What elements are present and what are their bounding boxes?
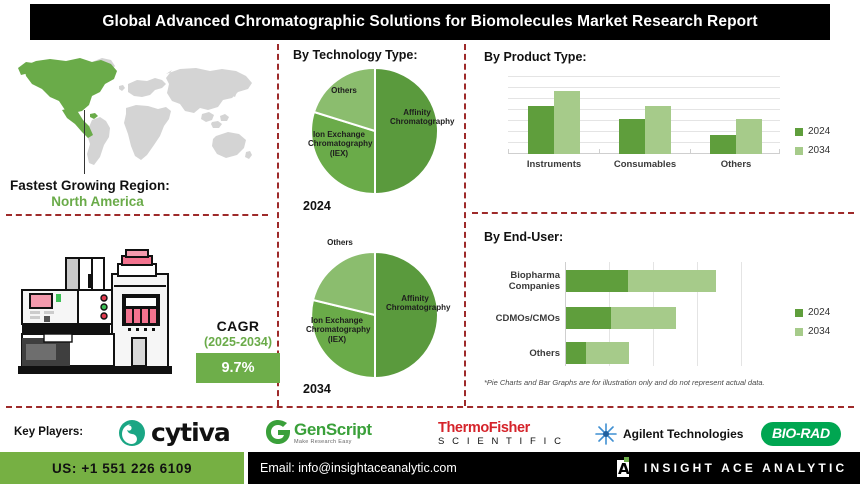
cagr-value: 9.7% xyxy=(196,353,280,383)
enduser-bar-chart xyxy=(565,262,765,366)
brand-block: A INSIGHT ACE ANALYTIC xyxy=(612,452,847,484)
page-title: Global Advanced Chromatographic Solution… xyxy=(102,13,757,31)
logo-thermo-fisher: ThermoFisher S C I E N T I F I C xyxy=(438,420,564,447)
bar-consumables-2034 xyxy=(645,106,671,154)
pie-chart-2024: Affinity Chromatography Ion Exchange Chr… xyxy=(302,68,448,199)
product-bar-chart xyxy=(508,76,780,154)
section-heading-technology: By Technology Type: xyxy=(293,48,418,62)
legend-item-2034: 2034 xyxy=(795,145,830,156)
insightace-logo-icon: A xyxy=(612,457,634,479)
legend-item-2034: 2034 xyxy=(795,326,830,337)
logo-agilent: Agilent Technologies xyxy=(594,422,743,446)
divider-horizontal-left xyxy=(6,214,268,216)
logo-cytiva: cytiva xyxy=(118,418,230,447)
logo-genscript: GenScript Make Research Easy xyxy=(265,419,372,445)
bar-others-2024 xyxy=(710,135,736,154)
cytiva-mark-icon xyxy=(118,419,146,447)
bar-instruments-2034 xyxy=(554,91,580,154)
infographic-root: Global Advanced Chromatographic Solution… xyxy=(0,0,860,484)
divider-vertical-right xyxy=(464,44,466,406)
genscript-mark-icon xyxy=(265,419,291,445)
enduser-category-label-0-line1: Biopharma xyxy=(480,270,560,281)
product-chart-legend: 2024 2034 xyxy=(795,126,830,164)
email-address: Email: info@insightaceanalytic.com xyxy=(260,461,457,475)
key-players-label: Key Players: xyxy=(14,426,83,438)
brand-name: INSIGHT ACE ANALYTIC xyxy=(644,461,847,475)
chart-disclaimer-note: *Pie Charts and Bar Graphs are for illus… xyxy=(484,378,765,387)
cagr-label: CAGR xyxy=(196,318,280,334)
svg-text:A: A xyxy=(618,460,630,478)
pie-2024-label-affinity: Affinity Chromatography xyxy=(390,108,444,127)
legend-swatch-2024 xyxy=(795,128,803,136)
legend-label-2034: 2034 xyxy=(808,326,830,337)
cytiva-wordmark: cytiva xyxy=(151,418,230,447)
bar-others-2034 xyxy=(736,119,762,154)
bar-instruments-2024 xyxy=(528,106,554,154)
vertical-gridline xyxy=(741,262,742,366)
tick-mid1 xyxy=(599,149,600,154)
bio-rad-pill: BIO-RAD xyxy=(761,422,841,446)
section-heading-enduser: By End-User: xyxy=(484,230,563,244)
product-category-label-0: Instruments xyxy=(508,159,600,170)
bar-consumables-2024 xyxy=(619,119,645,154)
agilent-starburst-icon xyxy=(594,422,618,446)
legend-swatch-2034 xyxy=(795,328,803,336)
thermofisher-scientific-text: S C I E N T I F I C xyxy=(438,436,564,447)
pie-2034-label-others: Others xyxy=(316,238,364,247)
enduser-category-label-2: Others xyxy=(480,348,560,359)
pie-2034-label-affinity: Affinity Chromatography xyxy=(386,294,444,313)
legend-swatch-2034 xyxy=(795,147,803,155)
hbar-biopharma-2024 xyxy=(566,270,628,292)
thermofisher-wordmark: ThermoFisher xyxy=(438,420,530,436)
legend-label-2024: 2024 xyxy=(808,126,830,137)
pie-2024-label-iex: Ion Exchange Chromatography (IEX) xyxy=(308,130,370,158)
tick-right xyxy=(779,149,780,154)
legend-label-2034: 2034 xyxy=(808,145,830,156)
report-title-bar: Global Advanced Chromatographic Solution… xyxy=(30,4,830,40)
pie-chart-2034: Affinity Chromatography Ion Exchange Chr… xyxy=(302,252,448,383)
divider-horizontal-right xyxy=(472,212,854,214)
fastest-growing-region: Fastest Growing Region: North America xyxy=(10,178,260,209)
gridline xyxy=(508,98,780,99)
phone-bar[interactable]: US: +1 551 226 6109 xyxy=(0,452,244,484)
tick-mid2 xyxy=(690,149,691,154)
pie-2024-year: 2024 xyxy=(303,199,331,213)
enduser-category-label-0-line2: Companies xyxy=(480,281,560,292)
genscript-tagline: Make Research Easy xyxy=(294,439,372,445)
hbar-others-2024 xyxy=(566,342,586,364)
hbar-biopharma-2034 xyxy=(628,270,716,292)
phone-number: US: +1 551 226 6109 xyxy=(52,461,192,476)
legend-label-2024: 2024 xyxy=(808,307,830,318)
world-map xyxy=(6,48,268,178)
gridline xyxy=(508,76,780,77)
gridline xyxy=(508,87,780,88)
enduser-category-label-0: Biopharma Companies xyxy=(480,270,560,293)
legend-item-2024: 2024 xyxy=(795,126,830,137)
pie-2034-year: 2034 xyxy=(303,382,331,396)
cagr-block: CAGR (2025-2034) 9.7% xyxy=(196,318,280,383)
logo-bio-rad: BIO-RAD xyxy=(761,422,841,446)
agilent-wordmark: Agilent Technologies xyxy=(623,427,743,441)
legend-item-2024: 2024 xyxy=(795,307,830,318)
enduser-chart-legend: 2024 2034 xyxy=(795,307,830,345)
hbar-cdmos-2034 xyxy=(611,307,676,329)
pie-2024-label-others: Others xyxy=(320,86,368,95)
tick-left xyxy=(508,149,509,154)
product-category-label-1: Consumables xyxy=(599,159,691,170)
cagr-period: (2025-2034) xyxy=(196,335,280,349)
legend-swatch-2024 xyxy=(795,309,803,317)
chromatography-instrument-illustration xyxy=(14,248,194,388)
product-category-label-2: Others xyxy=(690,159,782,170)
enduser-category-label-1: CDMOs/CMOs xyxy=(480,313,560,324)
fastest-growing-region-value: North America xyxy=(10,194,185,209)
divider-horizontal-bottom xyxy=(6,406,854,408)
hbar-others-2034 xyxy=(586,342,629,364)
section-heading-product: By Product Type: xyxy=(484,50,587,64)
genscript-wordmark: GenScript xyxy=(294,420,372,440)
pie-2034-label-iex: Ion Exchange Chromatography (IEX) xyxy=(306,316,368,344)
fastest-growing-region-caption: Fastest Growing Region: xyxy=(10,178,260,193)
map-leader-line xyxy=(84,110,85,174)
hbar-cdmos-2024 xyxy=(566,307,611,329)
bio-rad-wordmark: BIO-RAD xyxy=(772,425,830,441)
